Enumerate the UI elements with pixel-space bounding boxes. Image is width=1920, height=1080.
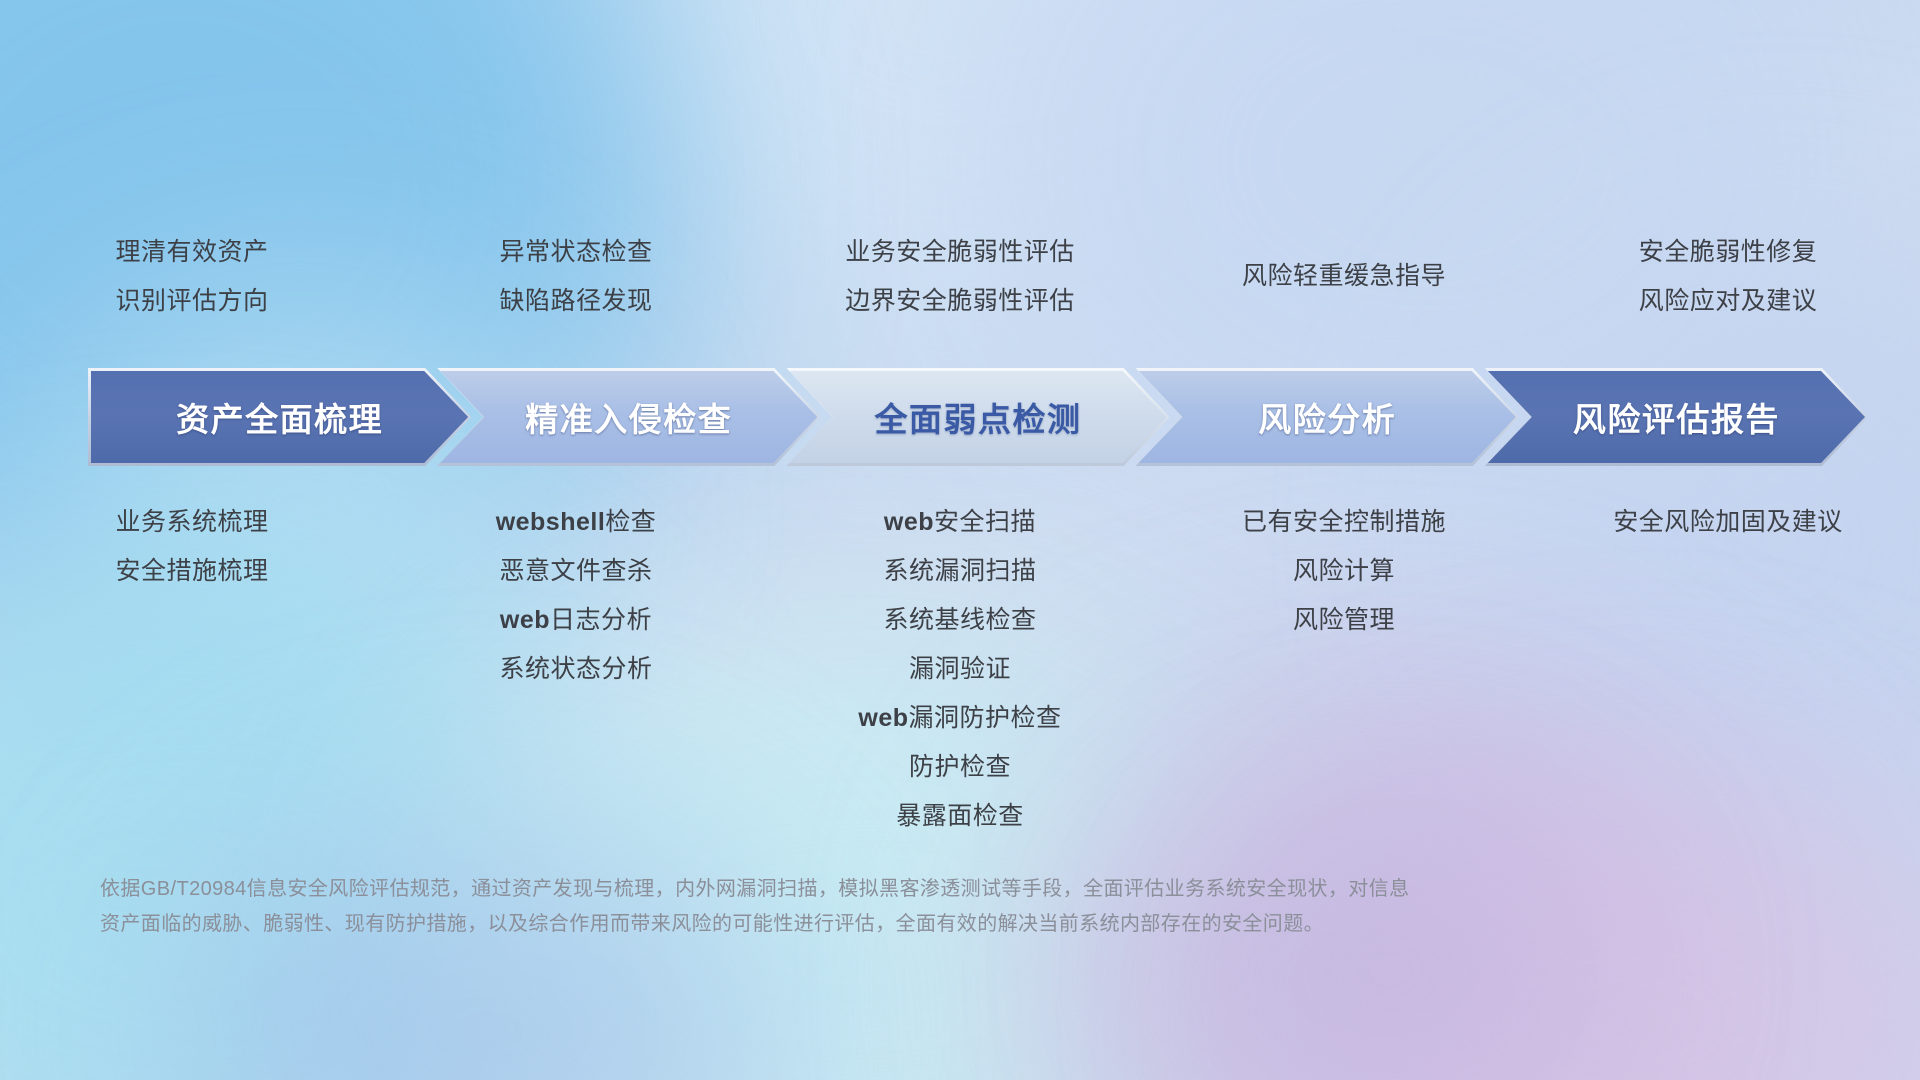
bottom-item: 已有安全控制措施 [1242, 498, 1446, 547]
footer-description: 依据GB/T20984信息安全风险评估规范，通过资产发现与梳理，内外网漏洞扫描，… [100, 872, 1660, 942]
top-label: 风险轻重缓急指导 [1242, 252, 1446, 301]
top-label: 风险应对及建议 [1639, 277, 1818, 326]
bottom-item: 系统状态分析 [499, 645, 652, 694]
top-labels-row: 理清有效资产识别评估方向异常状态检查缺陷路径发现业务安全脆弱性评估边界安全脆弱性… [0, 228, 1920, 326]
bottom-items-row: 业务系统梳理安全措施梳理webshell检查恶意文件查杀web日志分析系统状态分… [0, 498, 1920, 841]
stage-arrow-label: 全面弱点检测 [875, 393, 1082, 441]
bottom-items-asset-inventory: 业务系统梳理安全措施梳理 [0, 498, 384, 841]
bottom-item: 风险计算 [1293, 547, 1395, 596]
stage-arrow-band: 资产全面梳理精准入侵检查全面弱点检测风险分析风险评估报告 [88, 368, 1868, 466]
bottom-item: 恶意文件查杀 [499, 547, 652, 596]
bottom-item: web漏洞防护检查 [858, 694, 1061, 743]
bottom-item: 系统漏洞扫描 [883, 547, 1036, 596]
bottom-item: 防护检查 [909, 743, 1011, 792]
top-label: 缺陷路径发现 [499, 277, 652, 326]
footer-line-2: 资产面临的威胁、脆弱性、现有防护措施，以及综合作用而带来风险的可能性进行评估，全… [100, 907, 1660, 942]
stage-arrow-label: 风险分析 [1258, 393, 1396, 441]
top-labels-risk-analysis: 风险轻重缓急指导 [1152, 228, 1536, 326]
bottom-item: webshell检查 [496, 498, 657, 547]
footer-line-1: 依据GB/T20984信息安全风险评估规范，通过资产发现与梳理，内外网漏洞扫描，… [100, 872, 1660, 907]
stage-arrow-label: 风险评估报告 [1573, 393, 1780, 441]
top-label: 异常状态检查 [499, 228, 652, 277]
stage-arrow-label: 资产全面梳理 [176, 393, 383, 441]
top-labels-asset-inventory: 理清有效资产识别评估方向 [0, 228, 384, 326]
process-diagram: 理清有效资产识别评估方向异常状态检查缺陷路径发现业务安全脆弱性评估边界安全脆弱性… [0, 0, 1920, 1080]
bottom-item: 暴露面检查 [896, 792, 1024, 841]
stage-arrow-intrusion-check[interactable]: 精准入侵检查 [437, 368, 820, 466]
stage-arrow-weakness-detection[interactable]: 全面弱点检测 [786, 368, 1169, 466]
bottom-item: 系统基线检查 [883, 596, 1036, 645]
top-label: 识别评估方向 [115, 277, 268, 326]
bottom-item: web安全扫描 [884, 498, 1036, 547]
stage-arrow-risk-analysis[interactable]: 风险分析 [1136, 368, 1519, 466]
top-label: 理清有效资产 [115, 228, 268, 277]
top-labels-weakness-detection: 业务安全脆弱性评估边界安全脆弱性评估 [768, 228, 1152, 326]
bottom-item: 业务系统梳理 [115, 498, 268, 547]
bottom-items-weakness-detection: web安全扫描系统漏洞扫描系统基线检查漏洞验证web漏洞防护检查防护检查暴露面检… [768, 498, 1152, 841]
bottom-item: 风险管理 [1293, 596, 1395, 645]
bottom-items-intrusion-check: webshell检查恶意文件查杀web日志分析系统状态分析 [384, 498, 768, 841]
bottom-items-risk-report: 安全风险加固及建议 [1536, 498, 1920, 841]
top-label: 边界安全脆弱性评估 [845, 277, 1075, 326]
stage-arrow-label: 精准入侵检查 [525, 393, 732, 441]
bottom-item: web日志分析 [500, 596, 652, 645]
stage-arrow-risk-report[interactable]: 风险评估报告 [1485, 368, 1868, 466]
stage-arrow-asset-inventory[interactable]: 资产全面梳理 [88, 368, 471, 466]
bottom-item: 漏洞验证 [909, 645, 1011, 694]
top-labels-risk-report: 安全脆弱性修复风险应对及建议 [1536, 228, 1920, 326]
bottom-item: 安全风险加固及建议 [1613, 498, 1843, 547]
bottom-items-risk-analysis: 已有安全控制措施风险计算风险管理 [1152, 498, 1536, 841]
top-label: 业务安全脆弱性评估 [845, 228, 1075, 277]
top-label: 安全脆弱性修复 [1639, 228, 1818, 277]
top-labels-intrusion-check: 异常状态检查缺陷路径发现 [384, 228, 768, 326]
bottom-item: 安全措施梳理 [115, 547, 268, 596]
